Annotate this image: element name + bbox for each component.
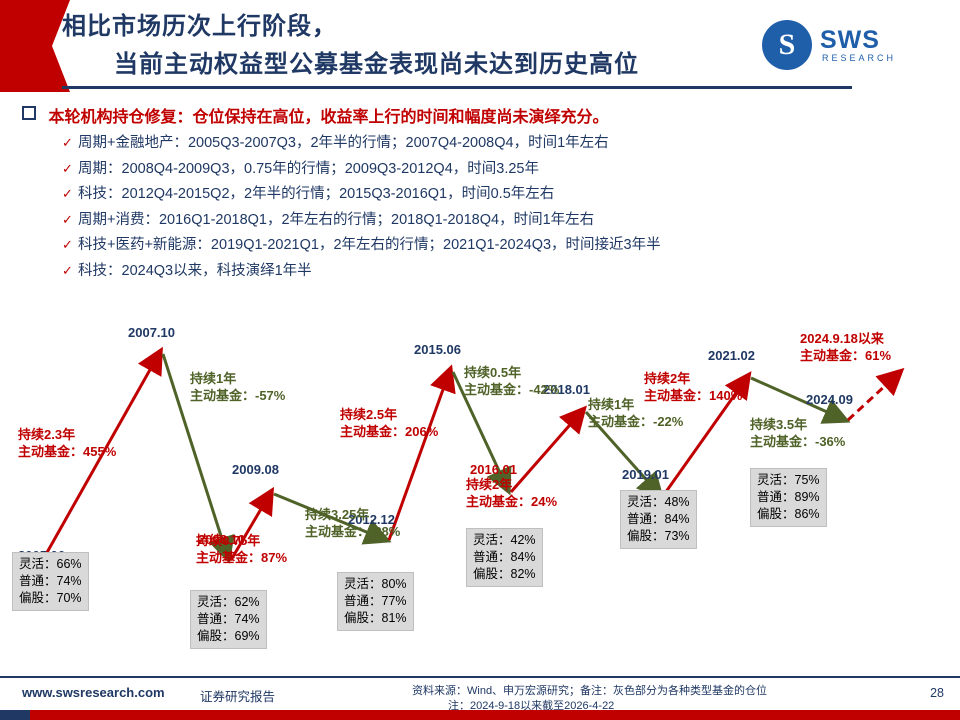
point-label-2007-10: 2007.10 — [128, 325, 175, 340]
segment-annotation-9: 持续2年 主动基金：140% — [644, 370, 742, 404]
list-item: ✓周期：2008Q4-2009Q3，0.75年的行情；2009Q3-2012Q4… — [62, 159, 942, 179]
segment-annotation-11: 2024.9.18以来 主动基金：61% — [800, 330, 891, 364]
segment-return: 主动基金：87% — [196, 549, 287, 566]
point-label-2009-08: 2009.08 — [232, 462, 279, 477]
segment-duration: 持续2.5年 — [340, 406, 438, 423]
page-title-line2: 当前主动权益型公募基金表现尚未达到历史高位 — [62, 46, 832, 84]
position-row-ordinary: 普通：84% — [473, 549, 536, 566]
segment-duration: 持续0.5年 — [464, 364, 559, 381]
check-icon: ✓ — [62, 210, 78, 230]
segment-return: 主动基金：61% — [800, 347, 891, 364]
segment-return: 主动基金：206% — [340, 423, 438, 440]
position-row-equity: 偏股：86% — [757, 506, 820, 523]
position-box-2016-01: 灵活：42% 普通：84% 偏股：82% — [466, 528, 543, 587]
check-icon: ✓ — [62, 261, 78, 281]
logo-text: SWS — [820, 26, 880, 55]
check-icon: ✓ — [62, 235, 78, 255]
list-item-label: 周期+消费：2016Q1-2018Q1，2年左右的行情；2018Q1-2018Q… — [78, 212, 594, 228]
footer-source-line1: 资料来源：Wind、申万宏源研究；备注：灰色部分为各种类型基金的仓位 — [412, 685, 767, 697]
position-box-2024-09: 灵活：75% 普通：89% 偏股：86% — [750, 468, 827, 527]
position-box-2012-12: 灵活：80% 普通：77% 偏股：81% — [337, 572, 414, 631]
position-row-equity: 偏股：73% — [627, 528, 690, 545]
position-row-ordinary: 普通：77% — [344, 593, 407, 610]
sws-logo: S SWS RESEARCH — [762, 20, 942, 72]
point-label-2021-02: 2021.02 — [708, 348, 755, 363]
list-item: ✓周期+金融地产：2005Q3-2007Q3，2年半的行情；2007Q4-200… — [62, 133, 942, 153]
segment-annotation-10: 持续3.5年 主动基金：-36% — [750, 416, 845, 450]
segment-duration: 持续2年 — [466, 476, 557, 493]
position-row-equity: 偏股：81% — [344, 610, 407, 627]
segment-annotation-1: 持续2.3年 主动基金：455% — [18, 426, 116, 460]
sub-bullet-list: ✓周期+金融地产：2005Q3-2007Q3，2年半的行情；2007Q4-200… — [62, 133, 942, 286]
position-row-ordinary: 普通：89% — [757, 489, 820, 506]
position-row-equity: 偏股：69% — [197, 628, 260, 645]
segment-duration: 持续0.75年 — [196, 532, 287, 549]
list-item-label: 周期：2008Q4-2009Q3，0.75年的行情；2009Q3-2012Q4，… — [78, 161, 539, 177]
footer-divider — [0, 676, 960, 678]
main-bullet-text: 本轮机构持仓修复：仓位保持在高位，收益率上行的时间和幅度尚未演绎充分。 — [48, 109, 608, 126]
list-item: ✓周期+消费：2016Q1-2018Q1，2年左右的行情；2018Q1-2018… — [62, 210, 942, 230]
logo-circle-icon: S — [762, 20, 812, 70]
list-item-label: 科技+医药+新能源：2019Q1-2021Q1，2年左右的行情；2021Q1-2… — [78, 237, 661, 253]
segment-return: 主动基金：-22% — [588, 413, 683, 430]
list-item: ✓科技+医药+新能源：2019Q1-2021Q1，2年左右的行情；2021Q1-… — [62, 235, 942, 255]
logo-subtext: RESEARCH — [822, 53, 896, 63]
position-row-equity: 偏股：82% — [473, 566, 536, 583]
page-header: 相比市场历次上行阶段， 当前主动权益型公募基金表现尚未达到历史高位 S SWS … — [0, 0, 960, 92]
page-footer: www.swsresearch.com 证券研究报告 资料来源：Wind、申万宏… — [0, 676, 960, 720]
position-row-flexible: 灵活：66% — [19, 556, 82, 573]
position-row-flexible: 灵活：80% — [344, 576, 407, 593]
page-number: 28 — [930, 686, 944, 700]
check-icon: ✓ — [62, 159, 78, 179]
segment-duration: 2024.9.18以来 — [800, 330, 891, 347]
point-label-2024-09: 2024.09 — [806, 392, 853, 407]
segment-return: 主动基金：455% — [18, 443, 116, 460]
footer-report-label: 证券研究报告 — [200, 686, 275, 705]
page-title: 相比市场历次上行阶段， 当前主动权益型公募基金表现尚未达到历史高位 — [62, 8, 832, 84]
footer-url[interactable]: www.swsresearch.com — [22, 685, 165, 700]
segment-duration: 持续3.5年 — [750, 416, 845, 433]
list-item: ✓科技：2012Q4-2015Q2，2年半的行情；2015Q3-2016Q1，时… — [62, 184, 942, 204]
footer-blue-band — [0, 710, 30, 720]
header-underline — [62, 86, 852, 89]
segment-duration: 持续2.3年 — [18, 426, 116, 443]
segment-return: 主动基金：24% — [466, 493, 557, 510]
check-icon: ✓ — [62, 184, 78, 204]
list-item-label: 科技：2012Q4-2015Q2，2年半的行情；2015Q3-2016Q1，时间… — [78, 186, 554, 202]
trend-chart: 2005.06 2007.10 2008.10 2009.08 2012.12 … — [0, 310, 960, 670]
segment-duration: 持续1年 — [190, 370, 285, 387]
position-box-2008-10: 灵活：62% 普通：74% 偏股：69% — [190, 590, 267, 649]
segment-return: 主动基金：-36% — [750, 433, 845, 450]
segment-annotation-7: 持续2年 主动基金：24% — [466, 476, 557, 510]
main-bullet: 本轮机构持仓修复：仓位保持在高位，收益率上行的时间和幅度尚未演绎充分。 — [22, 103, 922, 127]
bullet-square-icon — [22, 106, 36, 120]
segment-annotation-6: 持续0.5年 主动基金：-42% — [464, 364, 559, 398]
position-row-equity: 偏股：70% — [19, 590, 82, 607]
list-item-label: 周期+金融地产：2005Q3-2007Q3，2年半的行情；2007Q4-2008… — [78, 135, 609, 151]
page-title-line1: 相比市场历次上行阶段， — [62, 13, 337, 40]
segment-duration: 持续2年 — [644, 370, 742, 387]
segment-annotation-4: 持续3.25年 主动基金：-28% — [305, 506, 400, 540]
segment-return: 主动基金：140% — [644, 387, 742, 404]
point-label-2016-01: 2016.01 — [470, 462, 517, 477]
segment-return: 主动基金：-42% — [464, 381, 559, 398]
segment-duration: 持续3.25年 — [305, 506, 400, 523]
position-row-ordinary: 普通：84% — [627, 511, 690, 528]
position-row-flexible: 灵活：42% — [473, 532, 536, 549]
position-box-2019-01: 灵活：48% 普通：84% 偏股：73% — [620, 490, 697, 549]
logo-letter: S — [762, 20, 812, 70]
position-row-ordinary: 普通：74% — [19, 573, 82, 590]
list-item-label: 科技：2024Q3以来，科技演绎1年半 — [78, 263, 312, 279]
point-label-2019-01: 2019.01 — [622, 467, 669, 482]
position-row-flexible: 灵活：48% — [627, 494, 690, 511]
segment-return: 主动基金：-57% — [190, 387, 285, 404]
position-row-ordinary: 普通：74% — [197, 611, 260, 628]
segment-annotation-2: 持续1年 主动基金：-57% — [190, 370, 285, 404]
segment-return: 主动基金：-28% — [305, 523, 400, 540]
check-icon: ✓ — [62, 133, 78, 153]
position-row-flexible: 灵活：75% — [757, 472, 820, 489]
segment-annotation-3: 持续0.75年 主动基金：87% — [196, 532, 287, 566]
position-row-flexible: 灵活：62% — [197, 594, 260, 611]
position-box-2005-06: 灵活：66% 普通：74% 偏股：70% — [12, 552, 89, 611]
segment-annotation-5: 持续2.5年 主动基金：206% — [340, 406, 438, 440]
list-item: ✓科技：2024Q3以来，科技演绎1年半 — [62, 261, 942, 281]
point-label-2015-06: 2015.06 — [414, 342, 461, 357]
footer-red-band — [0, 710, 960, 720]
